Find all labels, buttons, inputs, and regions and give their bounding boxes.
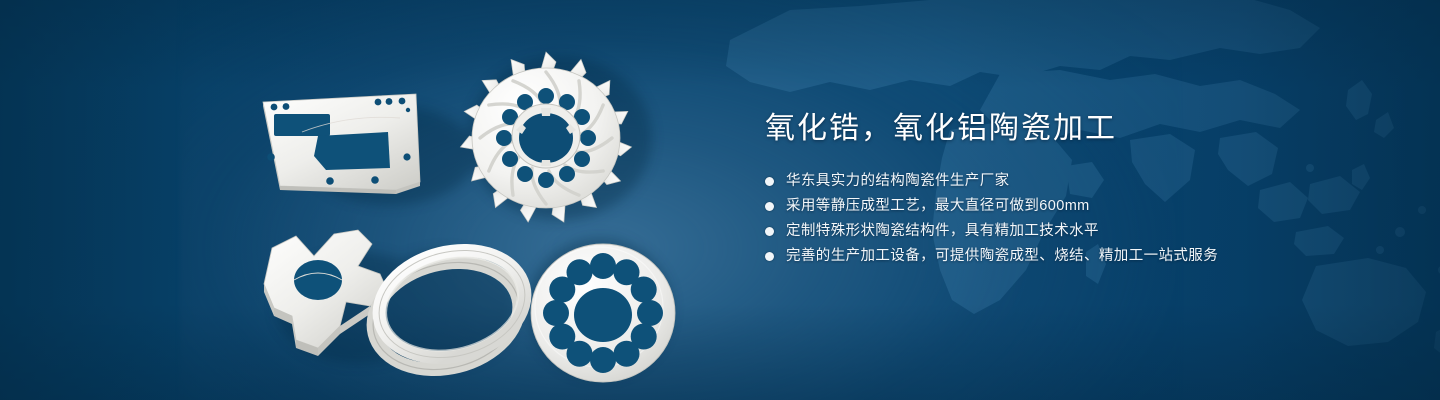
ceramic-parts-image: [230, 40, 720, 390]
feature-list: 华东具实力的结构陶瓷件生产厂家 采用等静压成型工艺，最大直径可做到600mm 定…: [765, 169, 1325, 268]
ceramic-plate-part: [263, 94, 420, 194]
hero-banner: 氧化锆，氧化铝陶瓷加工 华东具实力的结构陶瓷件生产厂家 采用等静压成型工艺，最大…: [0, 0, 1440, 400]
list-item: 华东具实力的结构陶瓷件生产厂家: [765, 169, 1325, 193]
list-item-label: 采用等静压成型工艺，最大直径可做到600mm: [786, 194, 1090, 218]
list-item: 采用等静压成型工艺，最大直径可做到600mm: [765, 194, 1325, 218]
page-title: 氧化锆，氧化铝陶瓷加工: [765, 110, 1325, 148]
ceramic-perforated-disc-part: [531, 244, 675, 382]
list-item: 定制特殊形状陶瓷结构件，具有精加工技术水平: [765, 219, 1325, 243]
list-item-label: 华东具实力的结构陶瓷件生产厂家: [786, 169, 1010, 193]
banner-copy: 氧化锆，氧化铝陶瓷加工 华东具实力的结构陶瓷件生产厂家 采用等静压成型工艺，最大…: [765, 110, 1325, 269]
bullet-dot-icon: [765, 252, 774, 261]
bullet-dot-icon: [765, 227, 774, 236]
bullet-dot-icon: [765, 202, 774, 211]
list-item-label: 定制特殊形状陶瓷结构件，具有精加工技术水平: [786, 219, 1099, 243]
list-item-label: 完善的生产加工设备，可提供陶瓷成型、烧结、精加工一站式服务: [786, 244, 1218, 268]
list-item: 完善的生产加工设备，可提供陶瓷成型、烧结、精加工一站式服务: [765, 244, 1325, 268]
bullet-dot-icon: [765, 177, 774, 186]
